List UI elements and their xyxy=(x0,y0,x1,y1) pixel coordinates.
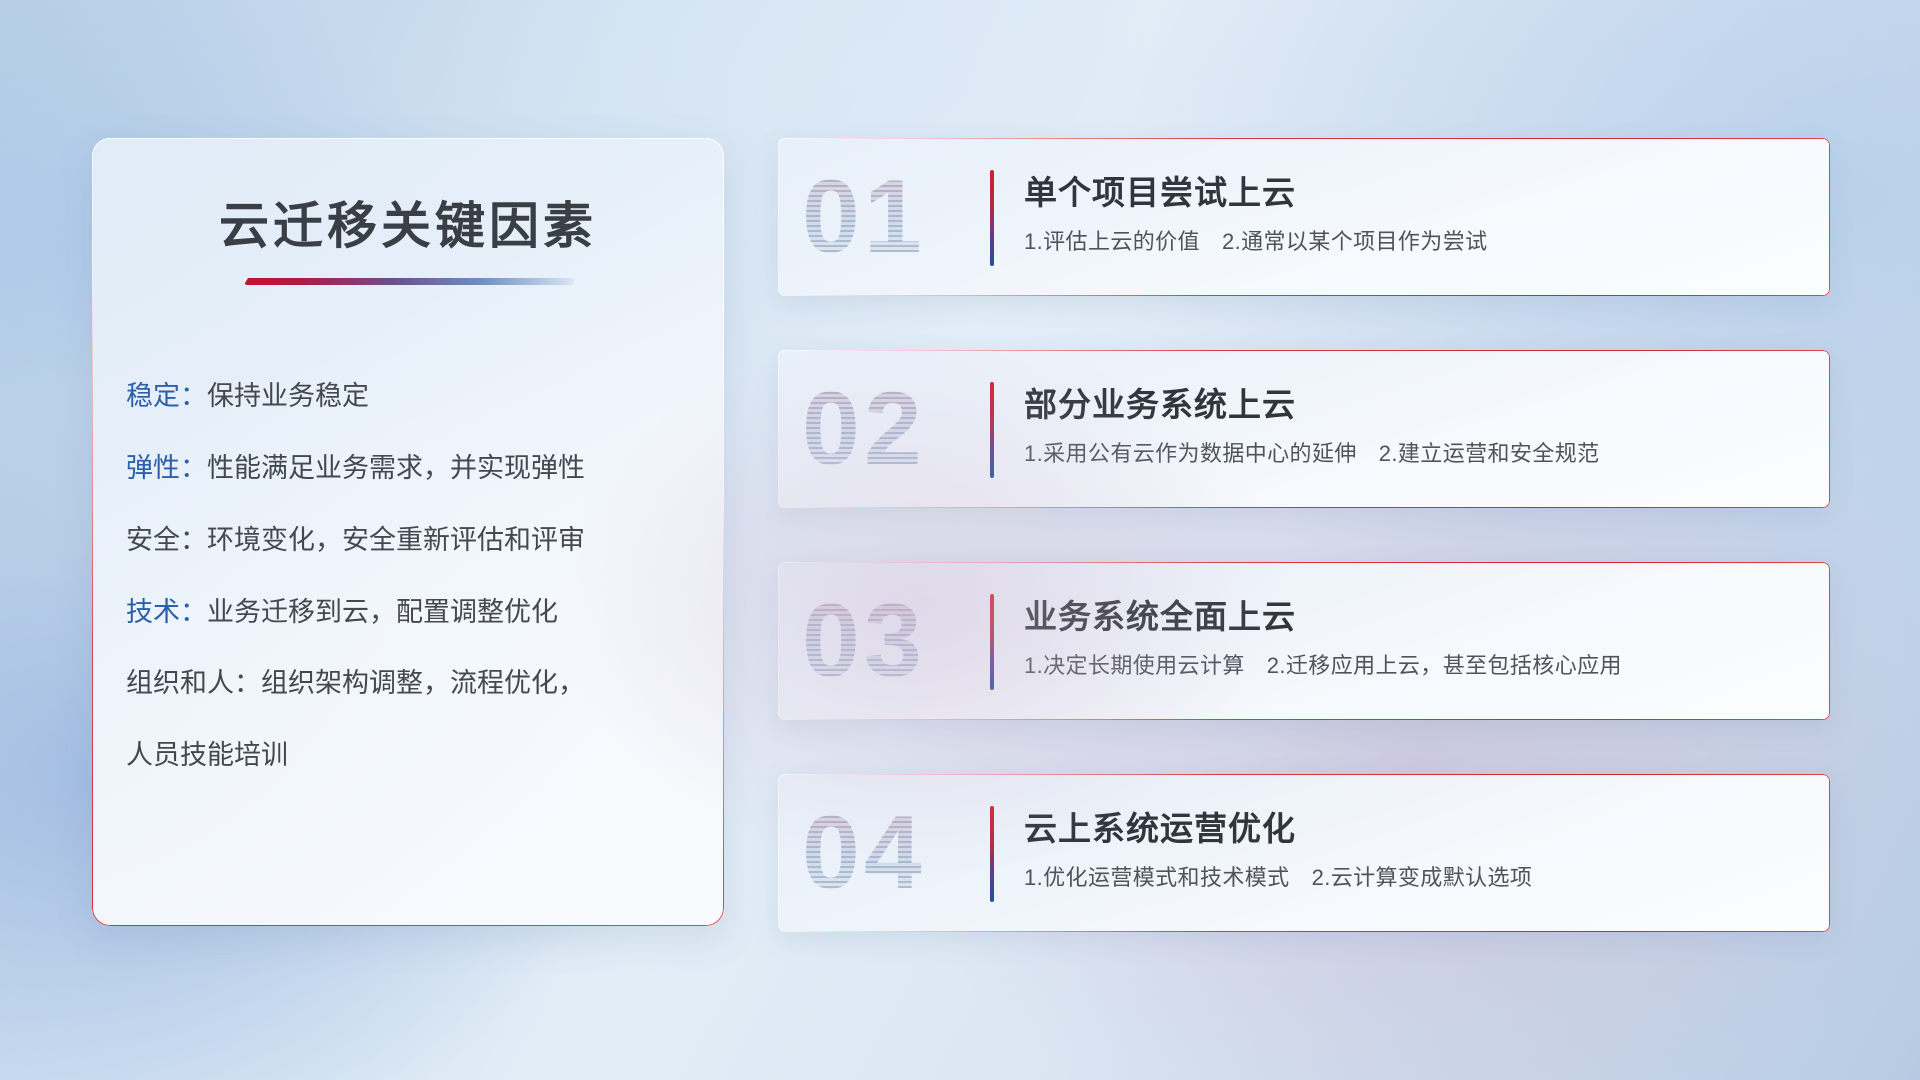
list-item: 技术：业务迁移到云，配置调整优化 xyxy=(126,592,698,634)
factor-label: 安全： xyxy=(126,525,207,555)
factor-value: 组织架构调整，流程优化， xyxy=(261,668,585,698)
step-title: 云上系统运营优化 xyxy=(1024,802,1296,850)
step-accent-bar xyxy=(990,594,994,690)
list-item: 人员技能培训 xyxy=(126,735,698,777)
step-card-04[interactable]: 04 云上系统运营优化 1.优化运营模式和技术模式2.云计算变成默认选项 xyxy=(778,774,1830,932)
step-number: 02 xyxy=(802,377,926,481)
step-card-03[interactable]: 03 业务系统全面上云 1.决定长期使用云计算2.迁移应用上云，甚至包括核心应用 xyxy=(778,562,1830,720)
step-details: 1.优化运营模式和技术模式2.云计算变成默认选项 xyxy=(1024,860,1532,892)
factor-value: 环境变化，安全重新评估和评审 xyxy=(207,525,585,555)
step-point-2: 2.建立运营和安全规范 xyxy=(1379,441,1600,466)
step-point-1: 1.决定长期使用云计算 xyxy=(1024,653,1245,678)
list-item: 安全：环境变化，安全重新评估和评审 xyxy=(126,520,698,562)
step-accent-bar xyxy=(990,806,994,902)
key-factors-panel: 云迁移关键因素 稳定：保持业务稳定 弹性：性能满足业务需求，并实现弹性 安全：环… xyxy=(92,138,724,926)
factor-label: 技术： xyxy=(126,597,207,627)
step-accent-bar xyxy=(990,170,994,266)
step-point-1: 1.评估上云的价值 xyxy=(1024,229,1200,254)
step-point-2: 2.迁移应用上云，甚至包括核心应用 xyxy=(1267,653,1622,678)
step-point-1: 1.优化运营模式和技术模式 xyxy=(1024,865,1290,890)
list-item: 弹性：性能满足业务需求，并实现弹性 xyxy=(126,448,698,490)
key-factors-list: 稳定：保持业务稳定 弹性：性能满足业务需求，并实现弹性 安全：环境变化，安全重新… xyxy=(126,376,698,807)
factor-value: 保持业务稳定 xyxy=(207,381,369,411)
step-details: 1.采用公有云作为数据中心的延伸2.建立运营和安全规范 xyxy=(1024,436,1600,468)
step-point-2: 2.通常以某个项目作为尝试 xyxy=(1222,229,1488,254)
factor-value: 业务迁移到云，配置调整优化 xyxy=(207,597,558,627)
step-title: 单个项目尝试上云 xyxy=(1024,166,1296,214)
step-title: 部分业务系统上云 xyxy=(1024,378,1296,426)
factor-value: 人员技能培训 xyxy=(126,740,288,770)
step-number: 03 xyxy=(802,589,926,693)
slide-canvas: 云迁移关键因素 稳定：保持业务稳定 弹性：性能满足业务需求，并实现弹性 安全：环… xyxy=(0,0,1920,1080)
factor-value: 性能满足业务需求，并实现弹性 xyxy=(207,453,585,483)
step-card-01[interactable]: 01 单个项目尝试上云 1.评估上云的价值2.通常以某个项目作为尝试 xyxy=(778,138,1830,296)
step-point-2: 2.云计算变成默认选项 xyxy=(1312,865,1533,890)
list-item: 稳定：保持业务稳定 xyxy=(126,376,698,418)
title-underline-accent xyxy=(244,278,574,285)
step-details: 1.决定长期使用云计算2.迁移应用上云，甚至包括核心应用 xyxy=(1024,648,1622,680)
step-accent-bar xyxy=(990,382,994,478)
step-card-02[interactable]: 02 部分业务系统上云 1.采用公有云作为数据中心的延伸2.建立运营和安全规范 xyxy=(778,350,1830,508)
step-title: 业务系统全面上云 xyxy=(1024,590,1296,638)
list-item: 组织和人：组织架构调整，流程优化， xyxy=(126,663,698,705)
page-title: 云迁移关键因素 xyxy=(92,186,724,258)
factor-label: 组织和人： xyxy=(126,668,261,698)
factor-label: 弹性： xyxy=(126,453,207,483)
step-details: 1.评估上云的价值2.通常以某个项目作为尝试 xyxy=(1024,224,1488,256)
step-point-1: 1.采用公有云作为数据中心的延伸 xyxy=(1024,441,1357,466)
factor-label: 稳定： xyxy=(126,381,207,411)
step-number: 01 xyxy=(802,165,926,269)
step-number: 04 xyxy=(802,801,926,905)
